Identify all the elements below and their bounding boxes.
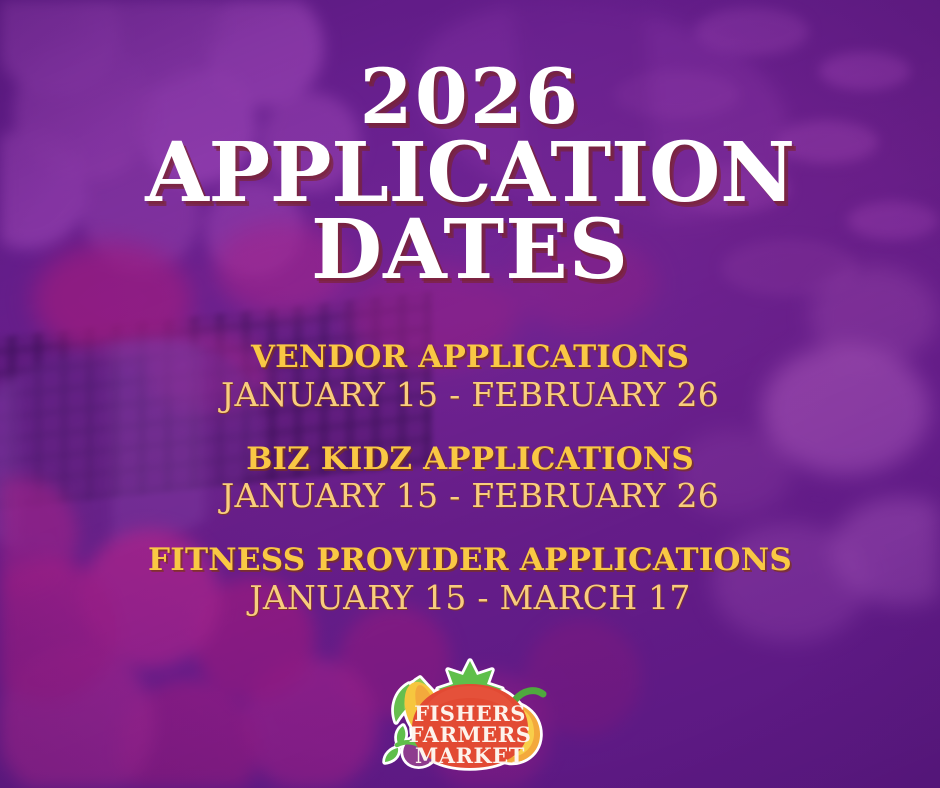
application-sections-list: VENDOR APPLICATIONS JANUARY 15 - FEBRUAR… bbox=[0, 341, 940, 618]
page-title: 2026 APPLICATION DATES bbox=[145, 62, 795, 289]
section-biz-kidz-applications: BIZ KIDZ APPLICATIONS JANUARY 15 - FEBRU… bbox=[221, 443, 719, 517]
section-title-biz-kidz: BIZ KIDZ APPLICATIONS bbox=[221, 443, 719, 476]
application-dates-poster: 2026 APPLICATION DATES VENDOR APPLICATIO… bbox=[0, 0, 940, 788]
section-title-vendor: VENDOR APPLICATIONS bbox=[221, 341, 719, 374]
poster-content: 2026 APPLICATION DATES VENDOR APPLICATIO… bbox=[0, 0, 940, 788]
section-vendor-applications: VENDOR APPLICATIONS JANUARY 15 - FEBRUAR… bbox=[221, 341, 719, 415]
fishers-farmers-market-logo: FISHERS FARMERS MARKET bbox=[365, 648, 575, 788]
headline-word-dates: DATES bbox=[145, 213, 795, 288]
section-dates-biz-kidz: JANUARY 15 - FEBRUARY 26 bbox=[221, 477, 719, 516]
squash-stem-icon bbox=[515, 691, 543, 700]
section-fitness-provider-applications: FITNESS PROVIDER APPLICATIONS JANUARY 15… bbox=[148, 544, 792, 618]
logo-artwork: FISHERS FARMERS MARKET bbox=[365, 648, 575, 788]
headline-word-application: APPLICATION bbox=[145, 136, 795, 211]
section-dates-fitness-provider: JANUARY 15 - MARCH 17 bbox=[148, 579, 792, 618]
headline-year: 2026 bbox=[145, 62, 795, 132]
section-title-fitness-provider: FITNESS PROVIDER APPLICATIONS bbox=[148, 544, 792, 577]
logo-line-3: MARKET bbox=[415, 743, 525, 768]
section-dates-vendor: JANUARY 15 - FEBRUARY 26 bbox=[221, 376, 719, 415]
